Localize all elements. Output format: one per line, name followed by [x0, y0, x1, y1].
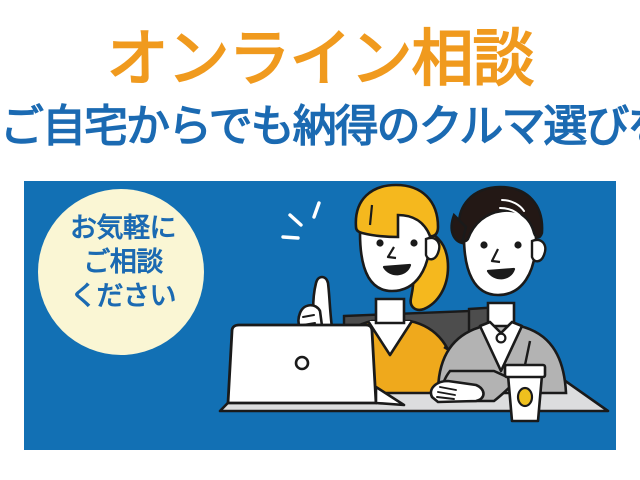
coffee-cup-lid: [505, 365, 545, 377]
man-shirt-button: [497, 334, 506, 343]
woman-ear: [426, 238, 439, 259]
coffee-cup-logo: [518, 388, 532, 406]
page-title: オンライン相談: [0, 28, 640, 90]
laptop-logo: [296, 357, 308, 369]
consultation-illustration: [24, 181, 616, 450]
page-subtitle: ご自宅からでも納得のクルマ選びを: [0, 104, 640, 150]
online-consultation-banner: オンライン相談 ご自宅からでも納得のクルマ選びを: [0, 0, 640, 480]
headline-area: オンライン相談 ご自宅からでも納得のクルマ選びを: [0, 0, 640, 175]
man-ear: [532, 240, 545, 261]
man-left-eye: [480, 241, 487, 248]
badge-circle: [38, 189, 204, 355]
woman-left-eye: [376, 239, 383, 246]
woman-right-eye: [410, 239, 417, 246]
man-right-eye: [514, 241, 521, 248]
illustration-panel: [24, 181, 616, 450]
woman-neck: [376, 299, 404, 323]
